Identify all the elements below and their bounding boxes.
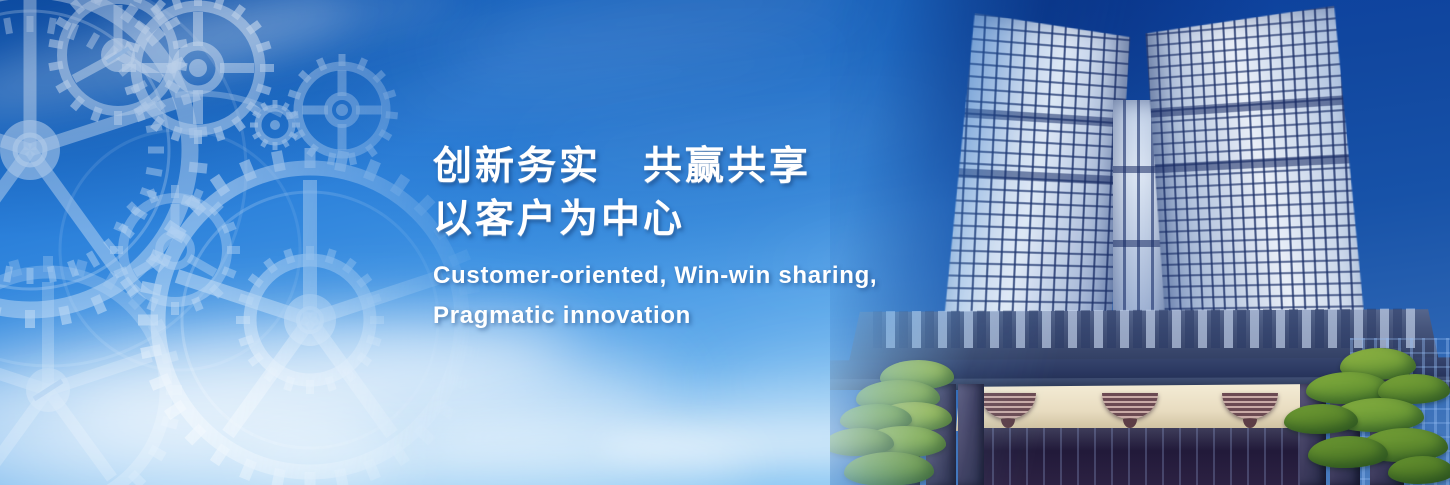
subheadline-en: Customer-oriented, Win-win sharing, Prag… bbox=[433, 256, 953, 336]
banner-copy: 创新务实 共赢共享 以客户为中心 Customer-oriented, Win-… bbox=[433, 140, 953, 336]
subheadline-en-line-1: Customer-oriented, Win-win sharing, bbox=[433, 256, 953, 296]
tower-right bbox=[1145, 4, 1368, 358]
lobby-reflections bbox=[958, 428, 1326, 485]
entrance-light-fixture bbox=[1102, 393, 1158, 419]
topiary-tree-left bbox=[830, 358, 972, 485]
headline-cn-line-2: 以客户为中心 bbox=[433, 193, 953, 246]
entrance-lobby bbox=[958, 428, 1326, 485]
headline-cn-line-1: 创新务实 共赢共享 bbox=[433, 140, 953, 193]
window-band bbox=[1113, 240, 1165, 247]
entrance-soffit bbox=[956, 383, 1326, 431]
topiary-tree-right bbox=[1282, 348, 1450, 485]
window-grid bbox=[1145, 4, 1368, 358]
hero-banner: 创新务实 共赢共享 以客户为中心 Customer-oriented, Win-… bbox=[0, 0, 1450, 485]
subheadline-en-line-2: Pragmatic innovation bbox=[433, 296, 953, 336]
entrance-light-fixture bbox=[980, 393, 1036, 419]
entrance-light-fixture bbox=[1222, 393, 1278, 419]
